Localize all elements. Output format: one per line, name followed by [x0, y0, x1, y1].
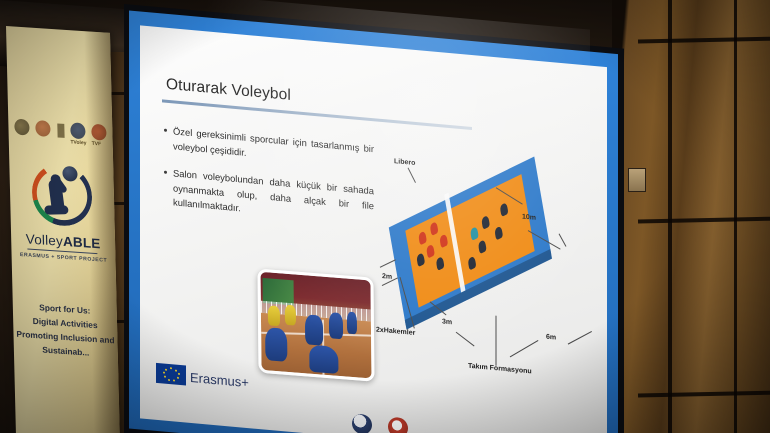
slide-title-underline	[162, 99, 472, 130]
partner-logo-4-icon	[70, 122, 85, 139]
banner-title-light: Volley	[26, 231, 64, 249]
court-isometric	[389, 156, 551, 325]
volleyable-logo-icon	[31, 162, 92, 228]
court-label-libero: Libero	[394, 158, 415, 167]
partner-logo-3-icon	[57, 123, 64, 137]
slide-bullet-list: Özel gereksinimli sporcular için tasarla…	[164, 124, 374, 241]
projection-screen: Oturarak Voleybol Özel gereksinimli spor…	[124, 4, 624, 433]
partner-logo-4-label: TVoley	[70, 139, 86, 146]
court-label-free-zone: 3m	[442, 318, 452, 326]
conference-room-screenshot: TVoley TVF VolleyABLE ERASMUS + SPORT PR…	[0, 0, 770, 433]
presentation-slide: Oturarak Voleybol Özel gereksinimli spor…	[140, 25, 607, 433]
partner-logo-2-icon	[35, 120, 50, 137]
slide-bullet-2: Salon voleybolundan daha küçük bir sahad…	[164, 166, 374, 228]
wall-wood-panel-right	[612, 0, 770, 433]
partner-logo-1-icon	[14, 119, 29, 136]
court-label-length: 10m	[522, 214, 536, 222]
footer-logo-1-icon	[352, 413, 372, 433]
court-label-formation: Takım Formasyonu	[468, 363, 532, 376]
court-diagram: Libero 10m 2m 2xHakemler 3m 6m Takım For…	[376, 154, 602, 386]
slide-bullet-1: Özel gereksinimli sporcular için tasarla…	[164, 124, 374, 172]
sitting-volleyball-photo	[257, 269, 374, 382]
wall-switch-plate[interactable]	[628, 168, 646, 192]
eu-flag-icon	[156, 363, 186, 386]
erasmus-plus-label: Erasmus+	[190, 370, 249, 390]
footer-logo-2-icon	[388, 417, 408, 433]
court-label-width: 6m	[546, 334, 556, 342]
rollup-banner: TVoley TVF VolleyABLE ERASMUS + SPORT PR…	[6, 26, 120, 433]
slide-footer-logos	[352, 413, 408, 433]
